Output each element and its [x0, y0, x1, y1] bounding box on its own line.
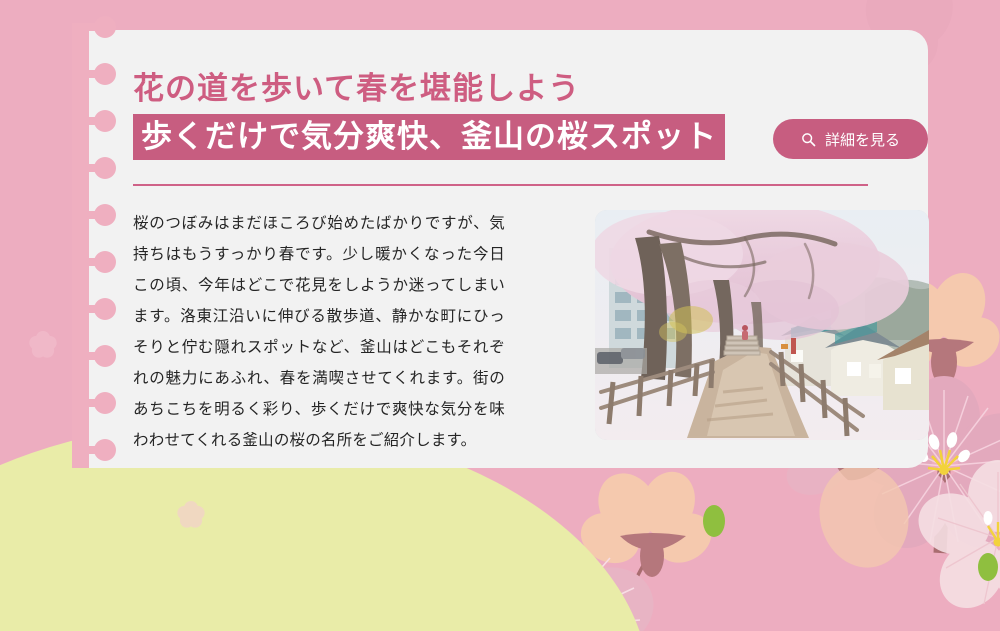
leaf-oval-icon [703, 505, 725, 537]
mini-flower-icon [176, 500, 206, 530]
notebook-spine [72, 30, 89, 468]
card-content: 花の道を歩いて春を堪能しよう 歩くだけで気分爽快、釜山の桜スポット 詳細を見る … [133, 30, 928, 468]
content-card: 花の道を歩いて春を堪能しよう 歩くだけで気分爽快、釜山の桜スポット 詳細を見る … [72, 30, 928, 468]
search-icon [801, 132, 816, 147]
sakura-blossom-corner-icon [928, 462, 1000, 612]
body-text: 桜のつぼみはまだほころび始めたばかりですが、気持ちはもうすっかり春です。少し暖か… [133, 208, 505, 456]
cherry-blossom-photo [595, 210, 929, 440]
detail-button[interactable]: 詳細を見る [773, 119, 928, 159]
leaf-oval-icon [978, 553, 998, 581]
title-line-1: 花の道を歩いて春を堪能しよう [133, 70, 725, 109]
photo-illustration [595, 210, 929, 440]
detail-button-label: 詳細を見る [825, 129, 900, 150]
section-divider [133, 184, 868, 186]
mini-flower-icon [28, 330, 58, 360]
page-title: 花の道を歩いて春を堪能しよう 歩くだけで気分爽快、釜山の桜スポット [133, 70, 725, 160]
poster-stage: 花の道を歩いて春を堪能しよう 歩くだけで気分爽快、釜山の桜スポット 詳細を見る … [0, 0, 1000, 631]
title-line-2-highlight: 歩くだけで気分爽快、釜山の桜スポット [133, 114, 725, 161]
soft-petal-icon [808, 458, 928, 578]
